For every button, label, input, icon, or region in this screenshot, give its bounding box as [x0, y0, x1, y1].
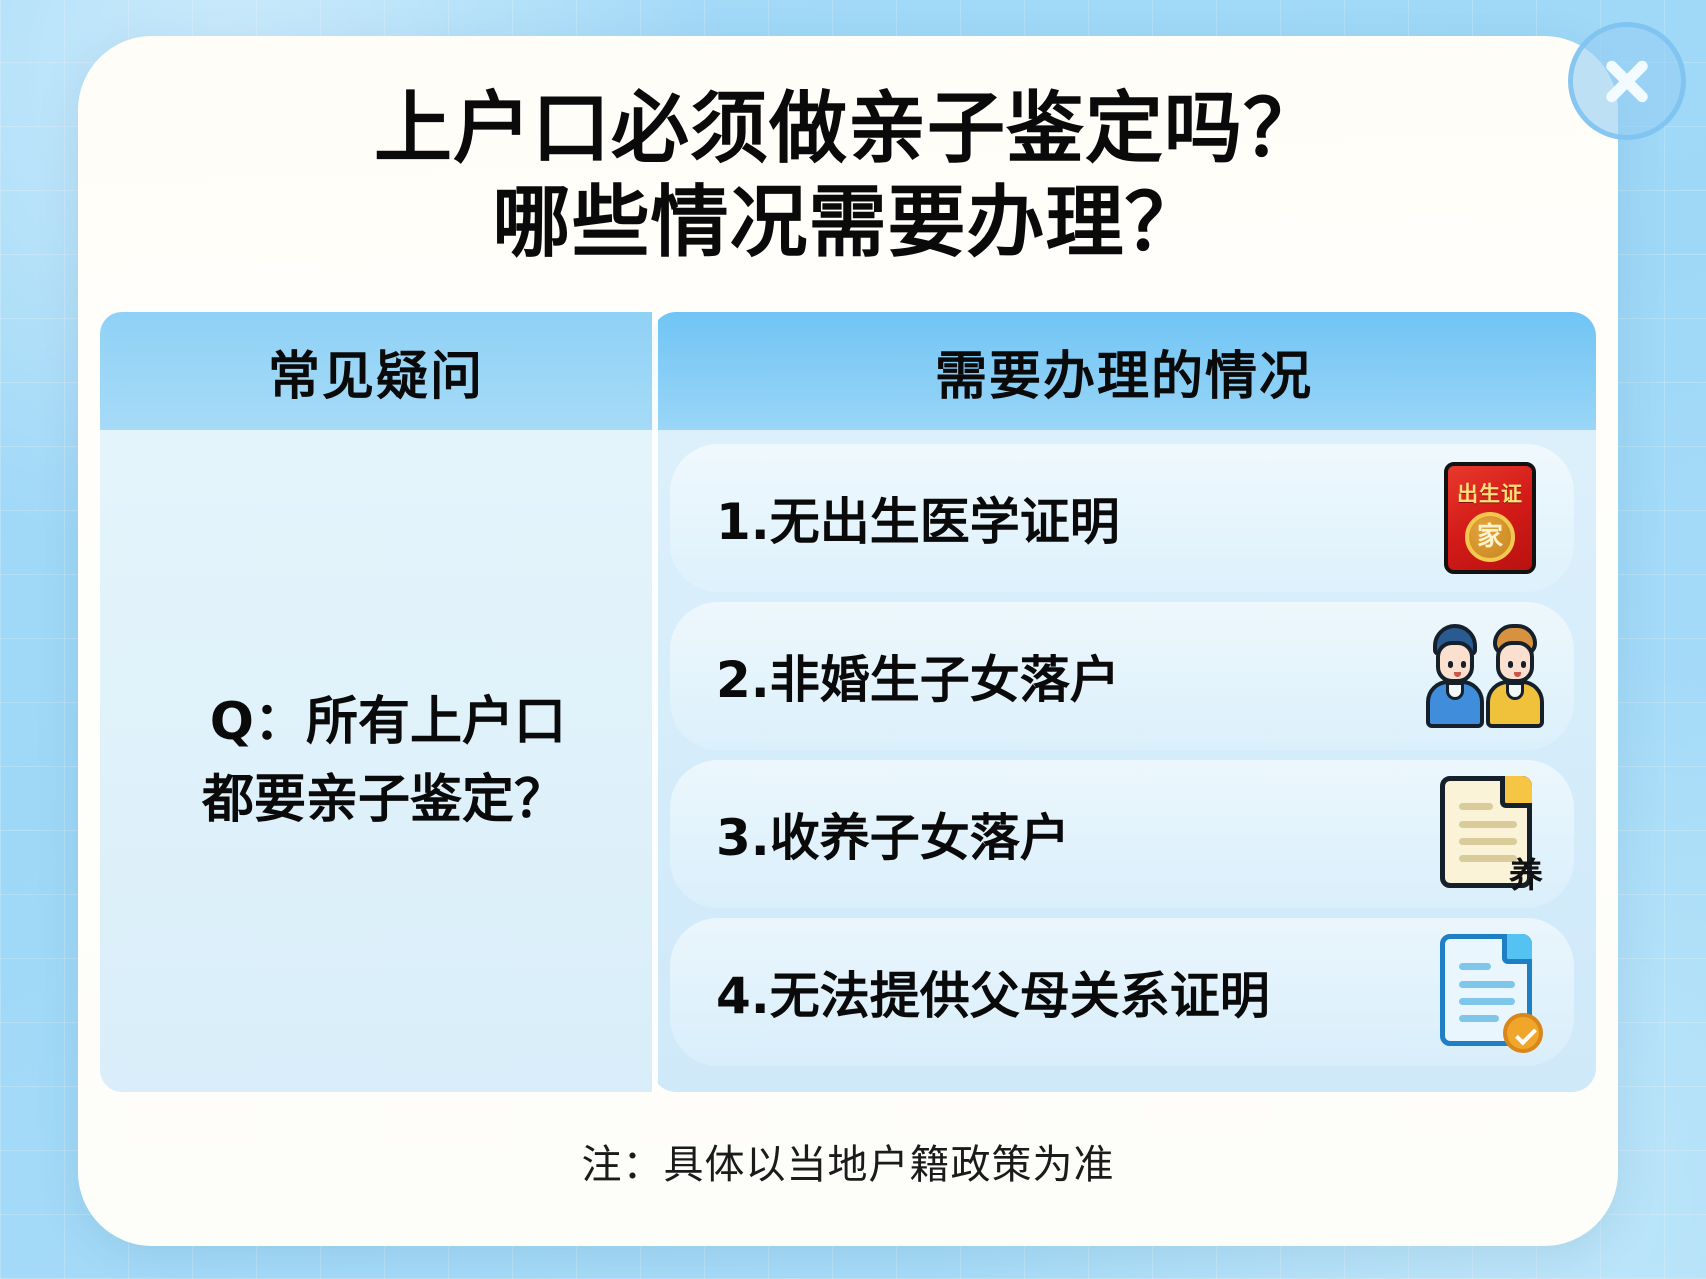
page-title: 上户口必须做亲子鉴定吗？ 哪些情况需要办理？	[78, 82, 1618, 270]
list-item[interactable]: 2.非婚生子女落户	[670, 602, 1574, 750]
birth-certificate-icon: 出生证 家	[1422, 452, 1554, 584]
list-item[interactable]: 3.收养子女落户 养	[670, 760, 1574, 908]
table-column-questions: 常见疑问 Q：所有上户口 都要亲子鉴定？	[100, 312, 652, 1092]
case-label-3: 3.收养子女落户	[716, 798, 1422, 870]
list-item[interactable]: 4.无法提供父母关系证明	[670, 918, 1574, 1066]
column-divider	[652, 312, 658, 1092]
footer-note: 注：具体以当地户籍政策为准	[78, 1132, 1618, 1190]
case-label-1: 1.无出生医学证明	[716, 482, 1422, 554]
case-label-2: 2.非婚生子女落户	[716, 640, 1422, 712]
page-title-line-2: 哪些情况需要办理？	[78, 176, 1618, 270]
question-line-2: 都要亲子鉴定？	[186, 761, 566, 839]
question-text: Q：所有上户口 都要亲子鉴定？	[160, 683, 592, 839]
certificate-seal-text: 家	[1465, 512, 1515, 562]
adoption-document-icon: 养	[1422, 768, 1554, 900]
comparison-table: 常见疑问 Q：所有上户口 都要亲子鉴定？ 需要办理的情况 1.无出生医学证明 出…	[100, 312, 1596, 1092]
approval-seal-icon	[1503, 1013, 1543, 1053]
column-header-questions: 常见疑问	[100, 312, 652, 430]
list-item[interactable]: 1.无出生医学证明 出生证 家	[670, 444, 1574, 592]
column-header-cases: 需要办理的情况	[652, 312, 1596, 430]
couple-icon	[1422, 610, 1554, 742]
certificate-title-text: 出生证	[1448, 478, 1532, 508]
cases-body: 1.无出生医学证明 出生证 家 2.非婚生子女落户	[652, 430, 1596, 1092]
question-line-1: Q：所有上户口	[186, 683, 566, 761]
case-label-4: 4.无法提供父母关系证明	[716, 956, 1422, 1028]
info-card: 上户口必须做亲子鉴定吗？ 哪些情况需要办理？ 常见疑问 Q：所有上户口 都要亲子…	[78, 36, 1618, 1246]
stamped-document-icon	[1422, 926, 1554, 1058]
adoption-badge-text: 养	[1509, 859, 1543, 893]
page-title-line-1: 上户口必须做亲子鉴定吗？	[78, 82, 1618, 176]
close-button[interactable]	[1568, 22, 1686, 140]
person-female-icon	[1484, 624, 1546, 728]
table-column-cases: 需要办理的情况 1.无出生医学证明 出生证 家 2.非婚生子女落户	[652, 312, 1596, 1092]
questions-body: Q：所有上户口 都要亲子鉴定？	[100, 430, 652, 1092]
person-male-icon	[1424, 624, 1486, 728]
